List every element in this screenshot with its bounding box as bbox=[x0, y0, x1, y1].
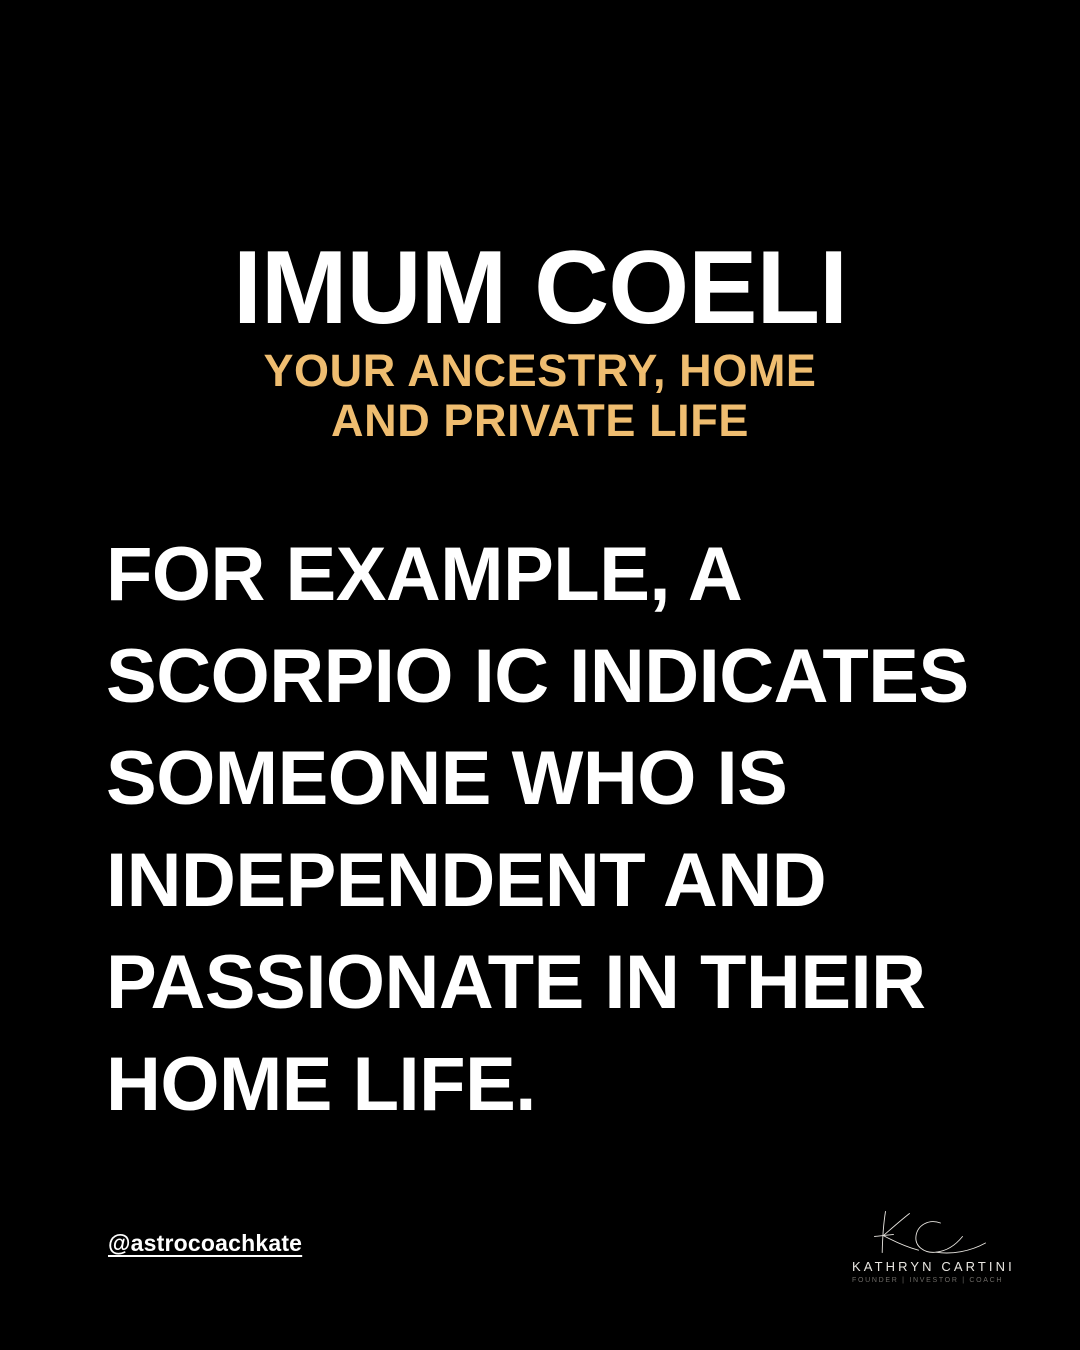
page-subtitle-line-1: YOUR ANCESTRY, HOME bbox=[0, 346, 1080, 396]
body-line: SCORPIO IC INDICATES bbox=[106, 626, 1006, 728]
page-title: IMUM COELI bbox=[0, 236, 1080, 340]
page-subtitle-line-2: AND PRIVATE LIFE bbox=[0, 396, 1080, 446]
page-subtitle: YOUR ANCESTRY, HOME AND PRIVATE LIFE bbox=[0, 346, 1080, 447]
brand-tagline: FOUNDER | INVESTOR | COACH bbox=[852, 1277, 1002, 1284]
body-line: SOMEONE WHO IS bbox=[106, 728, 1006, 830]
body-line: INDEPENDENT AND bbox=[106, 830, 1006, 932]
body-line: HOME LIFE. bbox=[106, 1034, 1006, 1136]
brand-logo: KATHRYN CARTINI FOUNDER | INVESTOR | COA… bbox=[852, 1205, 1002, 1297]
kc-signature-icon bbox=[852, 1205, 1002, 1261]
body-line: PASSIONATE IN THEIR bbox=[106, 932, 1006, 1034]
social-handle-link[interactable]: @astrocoachkate bbox=[108, 1230, 302, 1257]
brand-name: KATHRYN CARTINI bbox=[852, 1259, 1002, 1274]
social-card: IMUM COELI YOUR ANCESTRY, HOME AND PRIVA… bbox=[0, 0, 1080, 1350]
body-line: FOR EXAMPLE, A bbox=[106, 524, 1006, 626]
header-block: IMUM COELI YOUR ANCESTRY, HOME AND PRIVA… bbox=[0, 236, 1080, 447]
body-copy: FOR EXAMPLE, A SCORPIO IC INDICATES SOME… bbox=[106, 524, 1006, 1136]
